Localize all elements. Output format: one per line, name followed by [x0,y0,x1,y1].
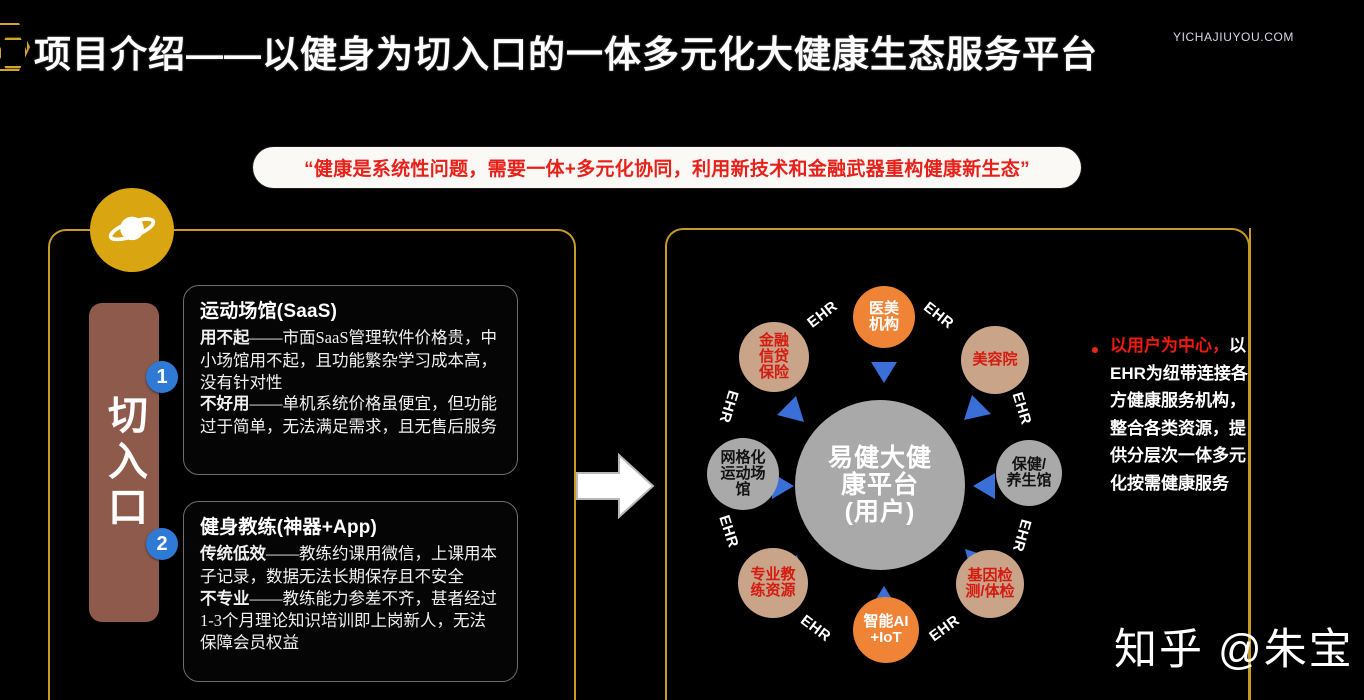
card-title: 运动场馆(SaaS) [200,296,501,323]
card-line-lead: 不好用 [200,395,250,413]
card-body: 传统低效——教练约课用微信，上课用本子记录，数据无法长期保存且不安全 不专业——… [200,543,501,654]
zhihu-watermark: 知乎 @朱宝 [1114,615,1354,677]
card-line: 传统低效——教练约课用微信，上课用本子记录，数据无法长期保存且不安全 [200,543,501,588]
entry-point-text: 切入口 [104,394,144,532]
hub-node-line: 医美 [869,301,899,317]
card-line: 不好用——单机系统价格虽便宜，但功能过于简单，无法满足需求，且无售后服务 [200,393,501,438]
hub-node-finance-credit[interactable]: 金融 信贷 保险 [739,322,809,392]
hub-node-line: 网格化 [720,450,765,466]
step-badge-1: 1 [146,361,178,393]
card-line: 用不起——市面SaaS管理软件价格贵，中小场馆用不起，且功能繁杂学习成本高，没有… [200,327,501,393]
card-body: 用不起——市面SaaS管理软件价格贵，中小场馆用不起，且功能繁杂学习成本高，没有… [200,327,501,438]
hub-center-line: (用户) [828,499,932,526]
card-line-lead: 用不起 [200,329,250,347]
value-proposition-highlight: 以用户为中心， [1110,336,1229,355]
quote-banner-text: “健康是系统性问题，需要一体+多元化协同，利用新技术和金融武器重构健康新生态” [304,154,1030,181]
hub-center-line: 康平台 [828,472,932,499]
card-title: 健身教练(神器+App) [200,512,501,539]
hub-node-line: 馆 [720,482,765,498]
hub-node-line: 运动场 [720,466,765,482]
hexagon-bullet-icon [0,22,30,72]
slide-canvas: 项目介绍——以健身为切入口的一体多元化大健康生态服务平台 YICHAJIUYOU… [0,0,1364,700]
card-line-lead: 不专业 [200,590,250,608]
hub-node-line: 金融 [759,333,789,349]
card-line: 不专业——教练能力参差不齐，甚者经过1-3个月理论知识培训即上岗新人，无法保障会… [200,588,501,654]
planet-badge [90,188,174,272]
site-watermark: YICHAJIUYOU.COM [1173,30,1294,44]
value-proposition-text: 以用户为中心，以EHR为纽带连接各方健康服务机构，整合各类资源，提供分层次一体多… [1110,332,1258,497]
hub-node-line: 养生馆 [1006,473,1051,489]
quote-banner: “健康是系统性问题，需要一体+多元化协同，利用新技术和金融武器重构健康新生态” [253,147,1081,188]
hub-node-line: 保健/ [1006,457,1051,473]
hub-node-line: 智能AI [863,614,908,630]
hub-center-line: 易健大健 [828,445,932,472]
hub-node-gene-testing[interactable]: 基因检 测/体检 [956,550,1024,618]
step-badge-2: 2 [146,528,178,560]
hub-node-line: 保险 [759,365,789,381]
hub-node-medical-beauty[interactable]: 医美 机构 [853,286,915,348]
pain-point-card-saas[interactable]: 运动场馆(SaaS) 用不起——市面SaaS管理软件价格贵，中小场馆用不起，且功… [183,285,518,475]
hub-node-grid-venue[interactable]: 网格化 运动场 馆 [707,438,779,510]
hub-node-line: 练资源 [750,583,795,599]
hub-center-node[interactable]: 易健大健 康平台 (用户) [795,400,965,570]
ecosystem-hub-diagram: 易健大健 康平台 (用户) 医美 机构 美容院 保健/ 养生馆 基因检 测/体检 [665,280,1125,700]
hub-node-health-spa[interactable]: 保健/ 养生馆 [996,440,1062,506]
hub-node-ai-iot[interactable]: 智能AI +IoT [853,597,919,663]
hub-node-coach-resource[interactable]: 专业教 练资源 [738,548,808,618]
hub-node-line: +IoT [863,630,908,646]
hub-node-line: 测/体检 [965,584,1014,600]
page-title: 项目介绍——以健身为切入口的一体多元化大健康生态服务平台 [34,24,1098,78]
card-line-lead: 传统低效 [200,545,266,563]
planet-saturn-icon [107,205,157,255]
right-arrow-icon [575,452,655,520]
hub-node-line: 专业教 [750,567,795,583]
hub-node-line: 机构 [869,317,899,333]
hub-node-line: 信贷 [759,349,789,365]
bullet-dot-icon [1092,347,1098,353]
hub-node-line: 基因检 [965,568,1014,584]
entry-point-label: 切入口 [89,303,159,622]
hub-node-line: 美容院 [972,352,1017,368]
hub-node-beauty-salon[interactable]: 美容院 [961,326,1029,394]
value-proposition-body: 以EHR为纽带连接各方健康服务机构，整合各类资源，提供分层次一体多元化按需健康服… [1110,336,1248,493]
pain-point-card-coach[interactable]: 健身教练(神器+App) 传统低效——教练约课用微信，上课用本子记录，数据无法长… [183,501,518,682]
